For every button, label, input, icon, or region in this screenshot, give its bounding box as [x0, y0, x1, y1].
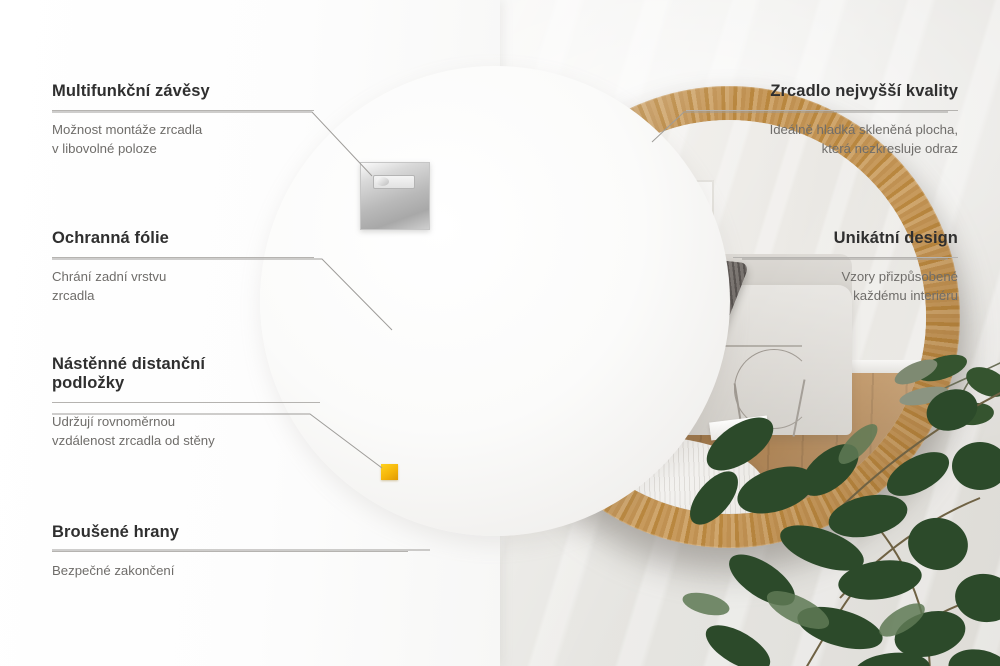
callout-description: Možnost montáže zrcadla v libovolné polo… — [52, 121, 314, 158]
callout-unikatni-design: Unikátní design Vzory přizpůsobené každé… — [733, 229, 958, 305]
callout-description: Vzory přizpůsobené každému interiéru — [733, 268, 958, 305]
callout-title: Broušené hrany — [52, 523, 408, 542]
callout-description: Ideálně hladká skleněná plocha, která ne… — [686, 121, 958, 158]
callout-divider — [686, 110, 958, 111]
callout-title: Multifunkční závěsy — [52, 82, 314, 101]
callout-nastenne-distancni-podlozky: Nástěnné distanční podložky Udržují rovn… — [52, 355, 320, 450]
desc-line-2: která nezkresluje odraz — [822, 141, 958, 156]
callout-divider — [733, 257, 958, 258]
callout-divider — [52, 257, 314, 258]
hanger-plate — [360, 162, 430, 230]
plant-leaves — [681, 382, 1000, 666]
desc-line-2: v libovolné poloze — [52, 141, 157, 156]
desc-line-1: Ideálně hladká skleněná plocha, — [770, 122, 958, 137]
desc-line-1: Chrání zadní vrstvu — [52, 269, 166, 284]
callout-description: Chrání zadní vrstvu zrcadla — [52, 268, 314, 305]
desc-line-1: Možnost montáže zrcadla — [52, 122, 202, 137]
callout-description: Bezpečné zakončení — [52, 562, 408, 581]
hanger-keyhole-slot — [373, 175, 415, 189]
callout-zrcadlo-nejvyssi-kvality: Zrcadlo nejvyšší kvality Ideálně hladká … — [686, 82, 958, 158]
title-line-2: podložky — [52, 374, 124, 392]
title-line-1: Nástěnné distanční — [52, 355, 205, 373]
callout-multifunkcni-zavesy: Multifunkční závěsy Možnost montáže zrca… — [52, 82, 314, 158]
mirror-back-white-disc — [260, 66, 730, 536]
callout-description: Udržují rovnoměrnou vzdálenost zrcadla o… — [52, 413, 320, 450]
desc-line-2: vzdálenost zrcadla od stěny — [52, 433, 215, 448]
desc-line-2: zrcadla — [52, 288, 95, 303]
callout-ochranna-folie: Ochranná fólie Chrání zadní vrstvu zrcad… — [52, 229, 314, 305]
callout-title: Ochranná fólie — [52, 229, 314, 248]
desc-line-2: každému interiéru — [853, 288, 958, 303]
callout-title: Nástěnné distanční podložky — [52, 355, 320, 393]
callout-title: Unikátní design — [733, 229, 958, 248]
desc-line-1: Udržují rovnoměrnou — [52, 414, 175, 429]
callout-divider — [52, 551, 408, 552]
callout-divider — [52, 110, 314, 111]
infographic-canvas: Multifunkční závěsy Možnost montáže zrca… — [0, 0, 1000, 666]
callout-brousene-hrany: Broušené hrany Bezpečné zakončení — [52, 523, 408, 581]
plant-foliage — [680, 348, 1000, 666]
wall-spacer-pad — [381, 464, 398, 480]
callout-divider — [52, 402, 320, 403]
callout-title: Zrcadlo nejvyšší kvality — [686, 82, 958, 101]
desc-line-1: Vzory přizpůsobené — [841, 269, 958, 284]
